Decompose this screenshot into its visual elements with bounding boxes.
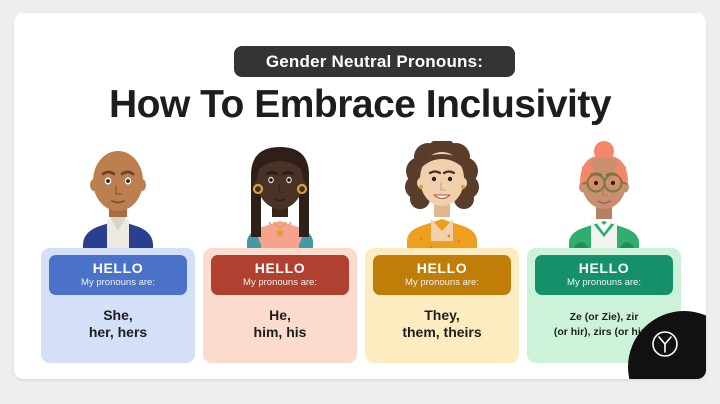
person-illustration-2: [203, 141, 357, 253]
slide-canvas: Gender Neutral Pronouns: How To Embrace …: [14, 13, 706, 379]
person-illustration-4: [527, 141, 681, 253]
hello-label-3: HELLO: [375, 260, 509, 276]
pronoun-line-2a: He,: [254, 307, 307, 324]
hello-label-1: HELLO: [51, 260, 185, 276]
pronoun-text-3: They, them, theirs: [402, 307, 481, 341]
pronoun-card-he[interactable]: HELLO My pronouns are: He, him, his: [203, 248, 357, 363]
head-4: [579, 157, 629, 219]
pronoun-text-2: He, him, his: [254, 307, 307, 341]
hello-badge-2: HELLO My pronouns are:: [211, 255, 349, 295]
page-title: How To Embrace Inclusivity: [14, 83, 706, 127]
pronoun-line-3a: They,: [402, 307, 481, 324]
kicker-label: Gender Neutral Pronouns:: [266, 52, 483, 72]
hello-badge-4: HELLO My pronouns are:: [535, 255, 673, 295]
pronoun-text-1: She, her, hers: [89, 307, 147, 341]
hello-badge-1: HELLO My pronouns are:: [49, 255, 187, 295]
pronoun-line-2b: him, his: [254, 324, 307, 341]
person-illustration-3: [365, 141, 519, 253]
pronoun-line-3b: them, theirs: [402, 324, 481, 341]
pronoun-subtitle-1: My pronouns are:: [51, 276, 185, 289]
pronoun-card-she[interactable]: HELLO My pronouns are: She, her, hers: [41, 248, 195, 363]
pronoun-line-4a: Ze (or Zie), zir: [554, 310, 654, 325]
kicker-badge: Gender Neutral Pronouns:: [234, 46, 515, 77]
hello-badge-3: HELLO My pronouns are:: [373, 255, 511, 295]
pronoun-card-they[interactable]: HELLO My pronouns are: They, them, their…: [365, 248, 519, 363]
pronoun-subtitle-3: My pronouns are:: [375, 276, 509, 289]
head-1: [90, 151, 146, 217]
pronoun-subtitle-2: My pronouns are:: [213, 276, 347, 289]
pronoun-line-1a: She,: [89, 307, 147, 324]
pronoun-line-1b: her, hers: [89, 324, 147, 341]
hello-label-4: HELLO: [537, 260, 671, 276]
person-illustration-1: [41, 141, 195, 253]
pronoun-cards-row: HELLO My pronouns are: She, her, hers HE…: [41, 248, 681, 363]
body-1: [83, 211, 153, 253]
pronoun-subtitle-4: My pronouns are:: [537, 276, 671, 289]
hello-label-2: HELLO: [213, 260, 347, 276]
head-2: [254, 151, 306, 217]
illustration-row: [41, 141, 681, 253]
